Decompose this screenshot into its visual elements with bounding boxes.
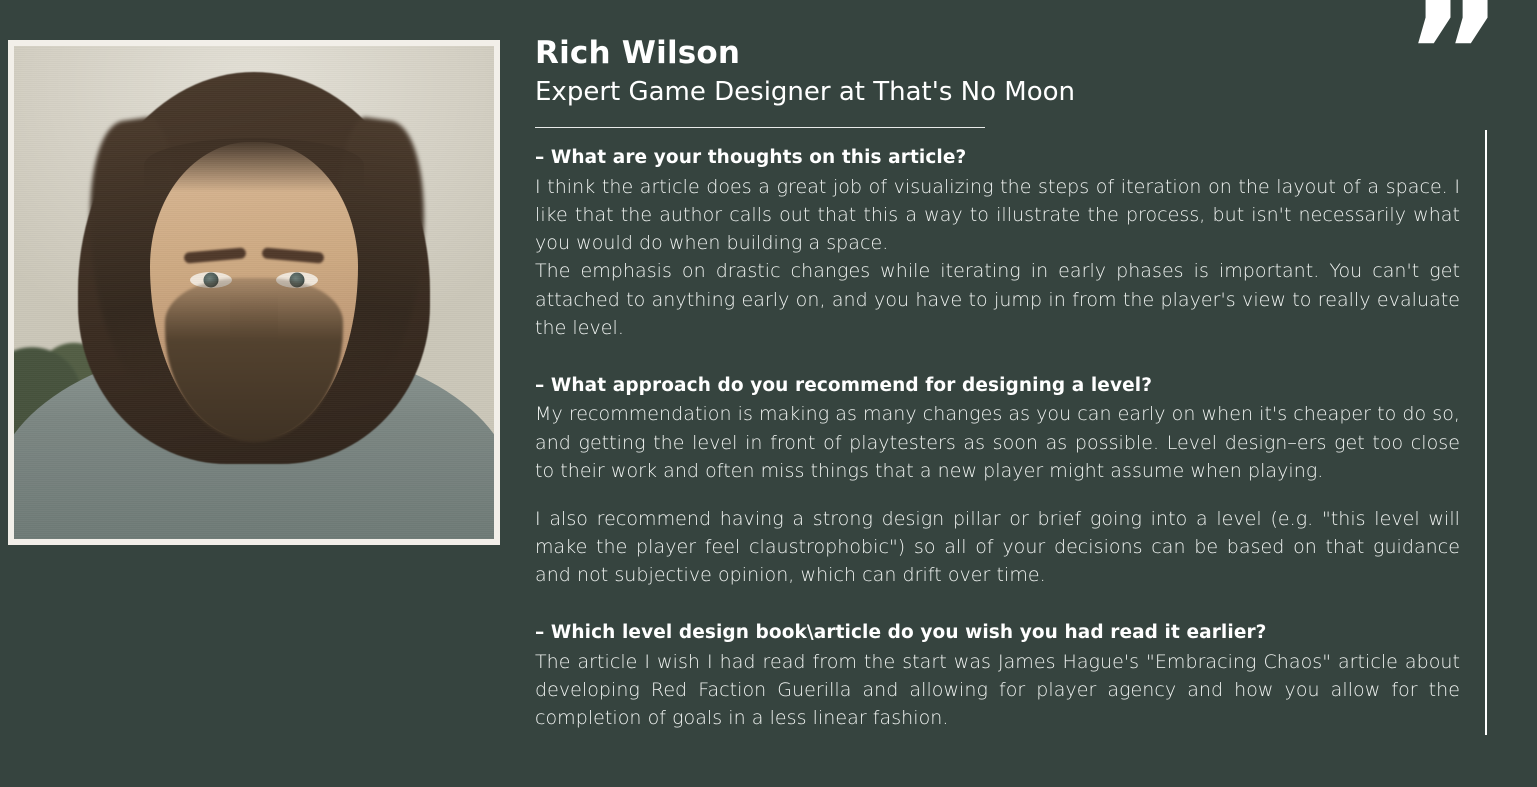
section-spacer-2	[535, 593, 1460, 619]
answer-1-paragraph-1: I think the article does a great job of …	[535, 173, 1460, 257]
portrait-photo-frame	[8, 40, 500, 545]
answer-2-paragraph-2: I also recommend having a strong design …	[535, 505, 1460, 589]
photo-right-eyebrow	[262, 247, 325, 263]
header-divider	[535, 127, 985, 128]
qa-block-1: – What are your thoughts on this article…	[535, 144, 1460, 341]
answer-1-paragraph-2: The emphasis on drastic changes while it…	[535, 257, 1460, 341]
section-spacer-1	[535, 346, 1460, 372]
answer-2-paragraph-1: My recommendation is making as many chan…	[535, 400, 1460, 484]
question-1: – What are your thoughts on this article…	[535, 144, 1460, 173]
qa-block-3: – Which level design book\article do you…	[535, 619, 1460, 732]
portrait-photo	[14, 46, 494, 539]
vertical-accent-rule	[1485, 130, 1487, 735]
interview-slide: ” Rich Wilson Expert Game Designer at Th…	[0, 0, 1537, 787]
question-2: – What approach do you recommend for des…	[535, 372, 1460, 401]
answer-3-paragraph-1: The article I wish I had read from the s…	[535, 648, 1460, 732]
person-name: Rich Wilson	[535, 36, 1460, 72]
question-3: – Which level design book\article do you…	[535, 619, 1460, 648]
interview-content: Rich Wilson Expert Game Designer at That…	[535, 36, 1460, 736]
photo-left-eyebrow	[184, 247, 247, 263]
person-role: Expert Game Designer at That's No Moon	[535, 76, 1460, 110]
paragraph-spacer-2	[535, 485, 1460, 505]
qa-block-2: – What approach do you recommend for des…	[535, 372, 1460, 589]
